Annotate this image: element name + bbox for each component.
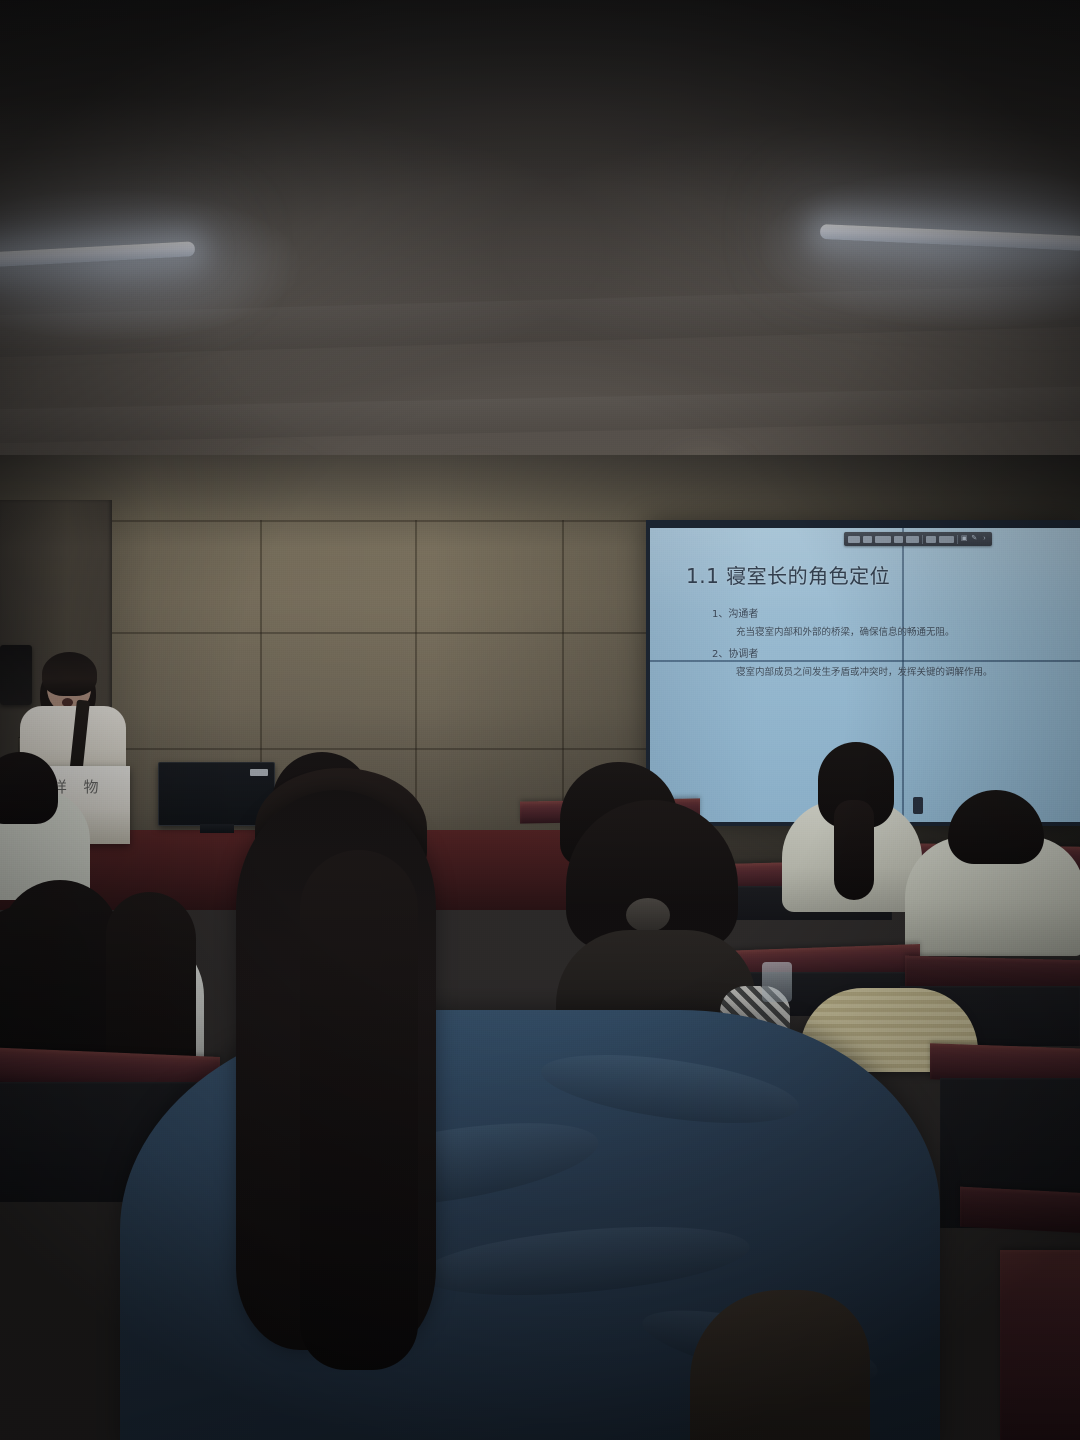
toolbar-chip[interactable]: [875, 536, 891, 543]
square-icon[interactable]: ▣: [961, 535, 968, 543]
lecture-hall-photo: ▣ ✎ › 1.1 寝室长的角色定位 1、沟通者 充当寝室内部和外部的桥梁，确保…: [0, 0, 1080, 1440]
toolbar-chip[interactable]: [848, 536, 860, 543]
foreground-ponytail: [300, 850, 418, 1370]
toolbar-chip[interactable]: [939, 536, 953, 543]
slide-bullet-number: 2、协调者: [712, 645, 1062, 660]
monitor-brand-label: [250, 769, 268, 776]
toolbar-separator: [957, 535, 958, 544]
toolbar-chip[interactable]: [894, 536, 904, 543]
slide-bullet-text: 寝室内部成员之间发生矛盾或冲突时，发挥关键的调解作用。: [736, 664, 1062, 678]
ceiling-shading: [0, 0, 1080, 470]
bench-row: [1000, 1250, 1080, 1440]
cup: [762, 962, 792, 1002]
monitor-stand: [200, 824, 234, 833]
pen-icon[interactable]: ✎: [971, 535, 978, 543]
presentation-toolbar[interactable]: ▣ ✎ ›: [844, 532, 992, 546]
toolbar-separator: [922, 535, 923, 544]
slide-title: 1.1 寝室长的角色定位: [686, 560, 890, 589]
toolbar-chip[interactable]: [863, 536, 872, 543]
slide-body: 1、沟通者 充当寝室内部和外部的桥梁，确保信息的畅通无阻。 2、协调者 寝室内部…: [712, 598, 1062, 678]
slide-bullet-text: 充当寝室内部和外部的桥梁，确保信息的畅通无阻。: [736, 624, 1062, 638]
bench-row: [960, 1187, 1080, 1234]
slide-bullet-number: 1、沟通者: [712, 605, 1062, 620]
toolbar-chip[interactable]: [926, 536, 937, 543]
toolbar-chip[interactable]: [906, 536, 918, 543]
phone-in-hand: [913, 797, 923, 814]
speaker-hair: [42, 652, 97, 696]
chevron-right-icon[interactable]: ›: [981, 535, 988, 543]
hair-tie: [626, 898, 670, 932]
